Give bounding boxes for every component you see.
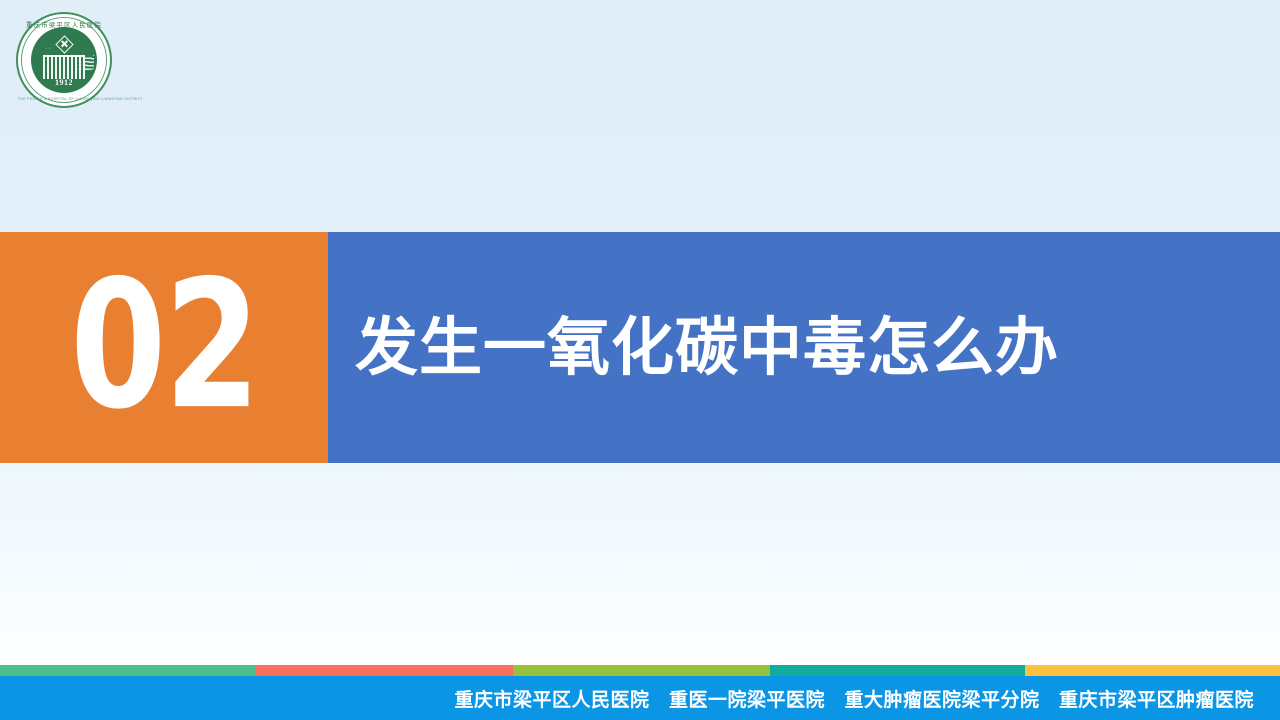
footer-stripe-bar: [0, 665, 1280, 676]
footer-hospital-names: 重庆市梁平区人民医院 重医一院梁平医院 重大肿瘤医院梁平分院 重庆市梁平区肿瘤医…: [454, 685, 1254, 712]
logo-english-ring-text: THE PEOPLE'S HOSPITAL OF CHONGQING LIANG…: [18, 97, 110, 101]
stripe-teal: [770, 665, 1025, 676]
hospital-logo: 重庆市梁平区人民医院 THE PEOPLE'S HOSPITAL OF CHON…: [16, 12, 112, 108]
stripe-amber: [1025, 665, 1280, 676]
section-number-block: 02: [0, 232, 328, 463]
stripe-lime: [513, 665, 770, 676]
hospital-building-icon: [43, 55, 85, 79]
footer-bar: 重庆市梁平区人民医院 重医一院梁平医院 重大肿瘤医院梁平分院 重庆市梁平区肿瘤医…: [0, 676, 1280, 720]
section-title-block: 发生一氧化碳中毒怎么办: [328, 232, 1280, 463]
section-title: 发生一氧化碳中毒怎么办: [355, 313, 1059, 382]
logo-green-disc: ·· 1912: [31, 27, 97, 93]
section-number: 02: [70, 257, 258, 434]
stripe-green: [0, 665, 256, 676]
slide-background-white-strip: [0, 655, 1280, 665]
birds-icon: ··: [45, 45, 59, 53]
presentation-slide: 重庆市梁平区人民医院 THE PEOPLE'S HOSPITAL OF CHON…: [0, 0, 1280, 720]
stripe-salmon: [256, 665, 513, 676]
logo-established-year: 1912: [31, 78, 97, 87]
